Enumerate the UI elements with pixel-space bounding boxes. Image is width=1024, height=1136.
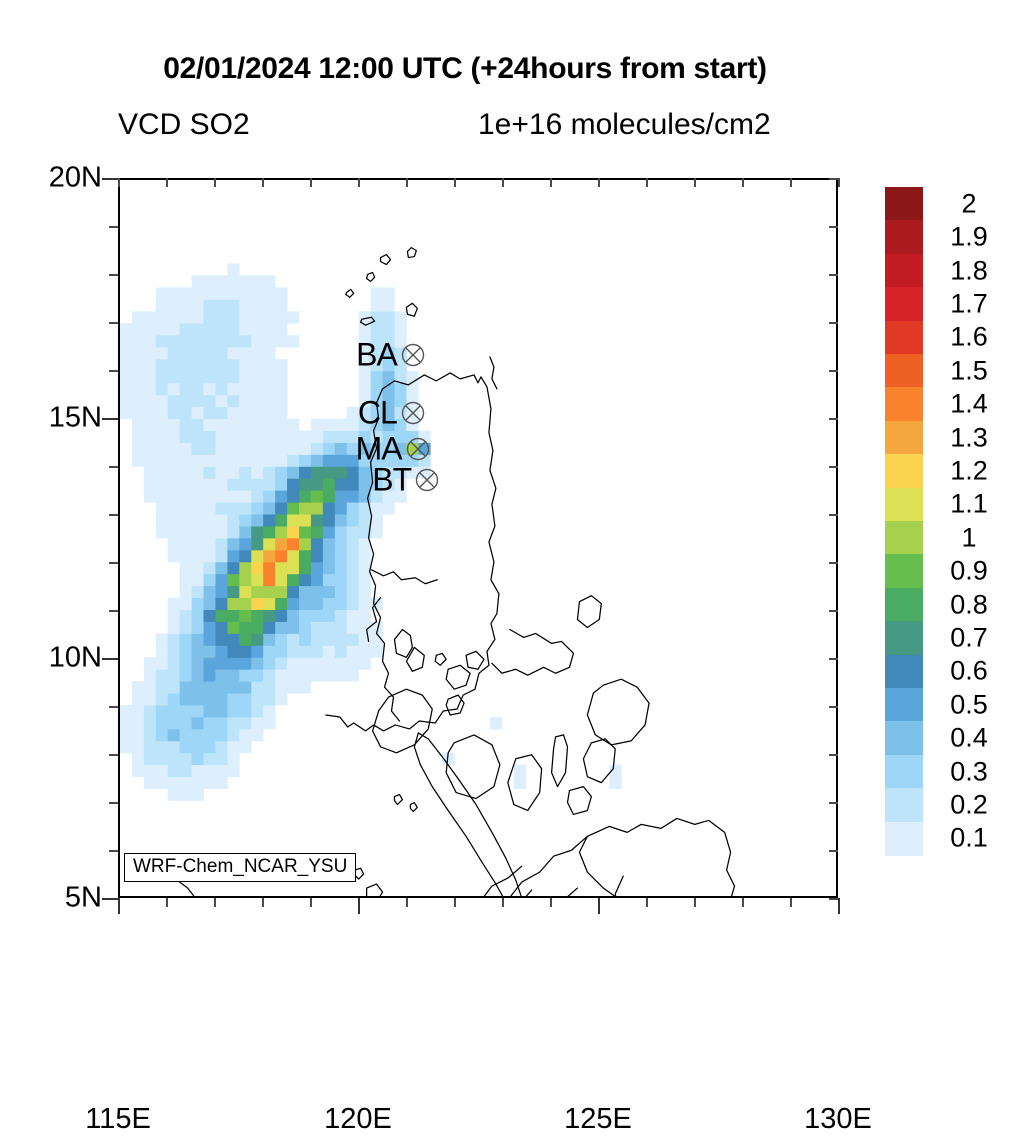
colorbar-band[interactable]: [885, 554, 923, 588]
x-tick-inner: [694, 178, 696, 187]
x-tick-inner: [550, 178, 552, 187]
colorbar-band[interactable]: [885, 588, 923, 622]
x-tick-inner: [646, 178, 648, 187]
colorbar-tick-label: 0.6: [930, 656, 1008, 687]
y-tick-inner: [829, 754, 838, 756]
colorbar-tick-label: 0.9: [930, 556, 1008, 587]
y-tick: [109, 706, 118, 708]
colorbar-tick-label: 0.5: [930, 689, 1008, 720]
y-tick-inner: [829, 466, 838, 468]
colorbar[interactable]: [885, 187, 923, 855]
y-tick: [109, 466, 118, 468]
variable-label: VCD SO2: [118, 108, 250, 142]
y-tick-inner: [829, 658, 838, 660]
x-tick: [502, 898, 504, 907]
colorbar-band[interactable]: [885, 421, 923, 455]
x-tick-inner: [262, 178, 264, 187]
x-tick-inner: [166, 178, 168, 187]
x-tick: [406, 898, 408, 907]
model-watermark: WRF-Chem_NCAR_YSU: [124, 853, 356, 882]
x-axis-label: 130E: [804, 1103, 872, 1136]
colorbar-tick-label: 0.3: [930, 756, 1008, 787]
x-tick-inner: [118, 178, 120, 187]
colorbar-tick-label: 0.1: [930, 823, 1008, 854]
y-tick-inner: [829, 898, 838, 900]
colorbar-band[interactable]: [885, 220, 923, 254]
colorbar-band[interactable]: [885, 321, 923, 355]
units-label: 1e+16 molecules/cm2: [478, 108, 771, 142]
colorbar-band[interactable]: [885, 755, 923, 789]
y-tick-inner: [829, 418, 838, 420]
y-tick-inner: [829, 610, 838, 612]
x-tick-inner: [406, 178, 408, 187]
colorbar-tick-label: 0.4: [930, 723, 1008, 754]
x-tick: [790, 898, 792, 907]
x-tick: [358, 898, 360, 914]
y-tick-inner: [829, 178, 838, 180]
y-tick-inner: [829, 562, 838, 564]
x-tick: [454, 898, 456, 907]
y-axis-label: 10N: [10, 642, 102, 675]
y-tick: [109, 754, 118, 756]
x-tick: [118, 898, 120, 914]
y-tick-inner: [829, 274, 838, 276]
colorbar-tick-label: 0.2: [930, 789, 1008, 820]
colorbar-tick-label: 1.7: [930, 288, 1008, 319]
x-tick: [310, 898, 312, 907]
y-tick-inner: [829, 226, 838, 228]
colorbar-tick-label: 0.7: [930, 622, 1008, 653]
colorbar-band[interactable]: [885, 822, 923, 856]
colorbar-band[interactable]: [885, 788, 923, 822]
y-tick-inner: [829, 850, 838, 852]
y-tick: [102, 418, 118, 420]
y-axis-label: 15N: [10, 402, 102, 435]
colorbar-band[interactable]: [885, 621, 923, 655]
y-tick: [109, 370, 118, 372]
x-tick: [646, 898, 648, 907]
x-tick-inner: [838, 178, 840, 187]
colorbar-tick-label: 1.5: [930, 355, 1008, 386]
y-tick: [109, 850, 118, 852]
x-tick-inner: [790, 178, 792, 187]
x-tick-inner: [598, 178, 600, 187]
x-axis-label: 115E: [85, 1103, 151, 1136]
y-tick: [109, 274, 118, 276]
x-tick: [262, 898, 264, 907]
colorbar-band[interactable]: [885, 287, 923, 321]
y-tick-inner: [829, 322, 838, 324]
colorbar-tick-label: 0.8: [930, 589, 1008, 620]
y-tick: [109, 514, 118, 516]
colorbar-band[interactable]: [885, 254, 923, 288]
page-title: 02/01/2024 12:00 UTC (+24hours from star…: [0, 52, 930, 86]
colorbar-band[interactable]: [885, 187, 923, 221]
x-tick-inner: [454, 178, 456, 187]
colorbar-band[interactable]: [885, 354, 923, 388]
colorbar-band[interactable]: [885, 488, 923, 522]
colorbar-band[interactable]: [885, 721, 923, 755]
colorbar-band[interactable]: [885, 387, 923, 421]
y-tick: [109, 562, 118, 564]
x-tick-inner: [214, 178, 216, 187]
colorbar-tick-label: 1.9: [930, 222, 1008, 253]
axis-layer: 20N15N10N5N115E120E125E130E: [118, 178, 838, 898]
x-tick: [214, 898, 216, 907]
y-axis-label: 5N: [10, 882, 102, 915]
colorbar-band[interactable]: [885, 688, 923, 722]
y-axis-label: 20N: [10, 162, 102, 195]
x-tick-inner: [502, 178, 504, 187]
colorbar-tick-labels: 21.91.81.71.61.51.41.31.21.110.90.80.70.…: [930, 187, 1014, 855]
colorbar-tick-label: 1.6: [930, 322, 1008, 353]
colorbar-tick-label: 1.4: [930, 389, 1008, 420]
x-axis-label: 125E: [564, 1103, 632, 1136]
x-tick: [838, 898, 840, 914]
x-tick: [694, 898, 696, 907]
y-tick-inner: [829, 706, 838, 708]
colorbar-band[interactable]: [885, 655, 923, 689]
colorbar-tick-label: 1.3: [930, 422, 1008, 453]
y-tick-inner: [829, 514, 838, 516]
x-tick: [166, 898, 168, 907]
colorbar-tick-label: 1.8: [930, 255, 1008, 286]
x-tick: [598, 898, 600, 914]
y-tick: [109, 226, 118, 228]
x-tick-inner: [742, 178, 744, 187]
colorbar-band[interactable]: [885, 521, 923, 555]
colorbar-tick-label: 1: [930, 522, 1008, 553]
x-axis-label: 120E: [324, 1103, 392, 1136]
y-tick-inner: [829, 802, 838, 804]
x-tick-inner: [358, 178, 360, 187]
y-tick: [102, 658, 118, 660]
colorbar-tick-label: 2: [930, 188, 1008, 219]
colorbar-band[interactable]: [885, 454, 923, 488]
y-tick: [102, 898, 118, 900]
colorbar-tick-label: 1.1: [930, 489, 1008, 520]
y-tick: [109, 802, 118, 804]
y-tick: [102, 178, 118, 180]
y-tick-inner: [829, 370, 838, 372]
y-tick: [109, 322, 118, 324]
x-tick: [742, 898, 744, 907]
colorbar-tick-label: 1.2: [930, 455, 1008, 486]
x-tick-inner: [310, 178, 312, 187]
x-tick: [550, 898, 552, 907]
y-tick: [109, 610, 118, 612]
